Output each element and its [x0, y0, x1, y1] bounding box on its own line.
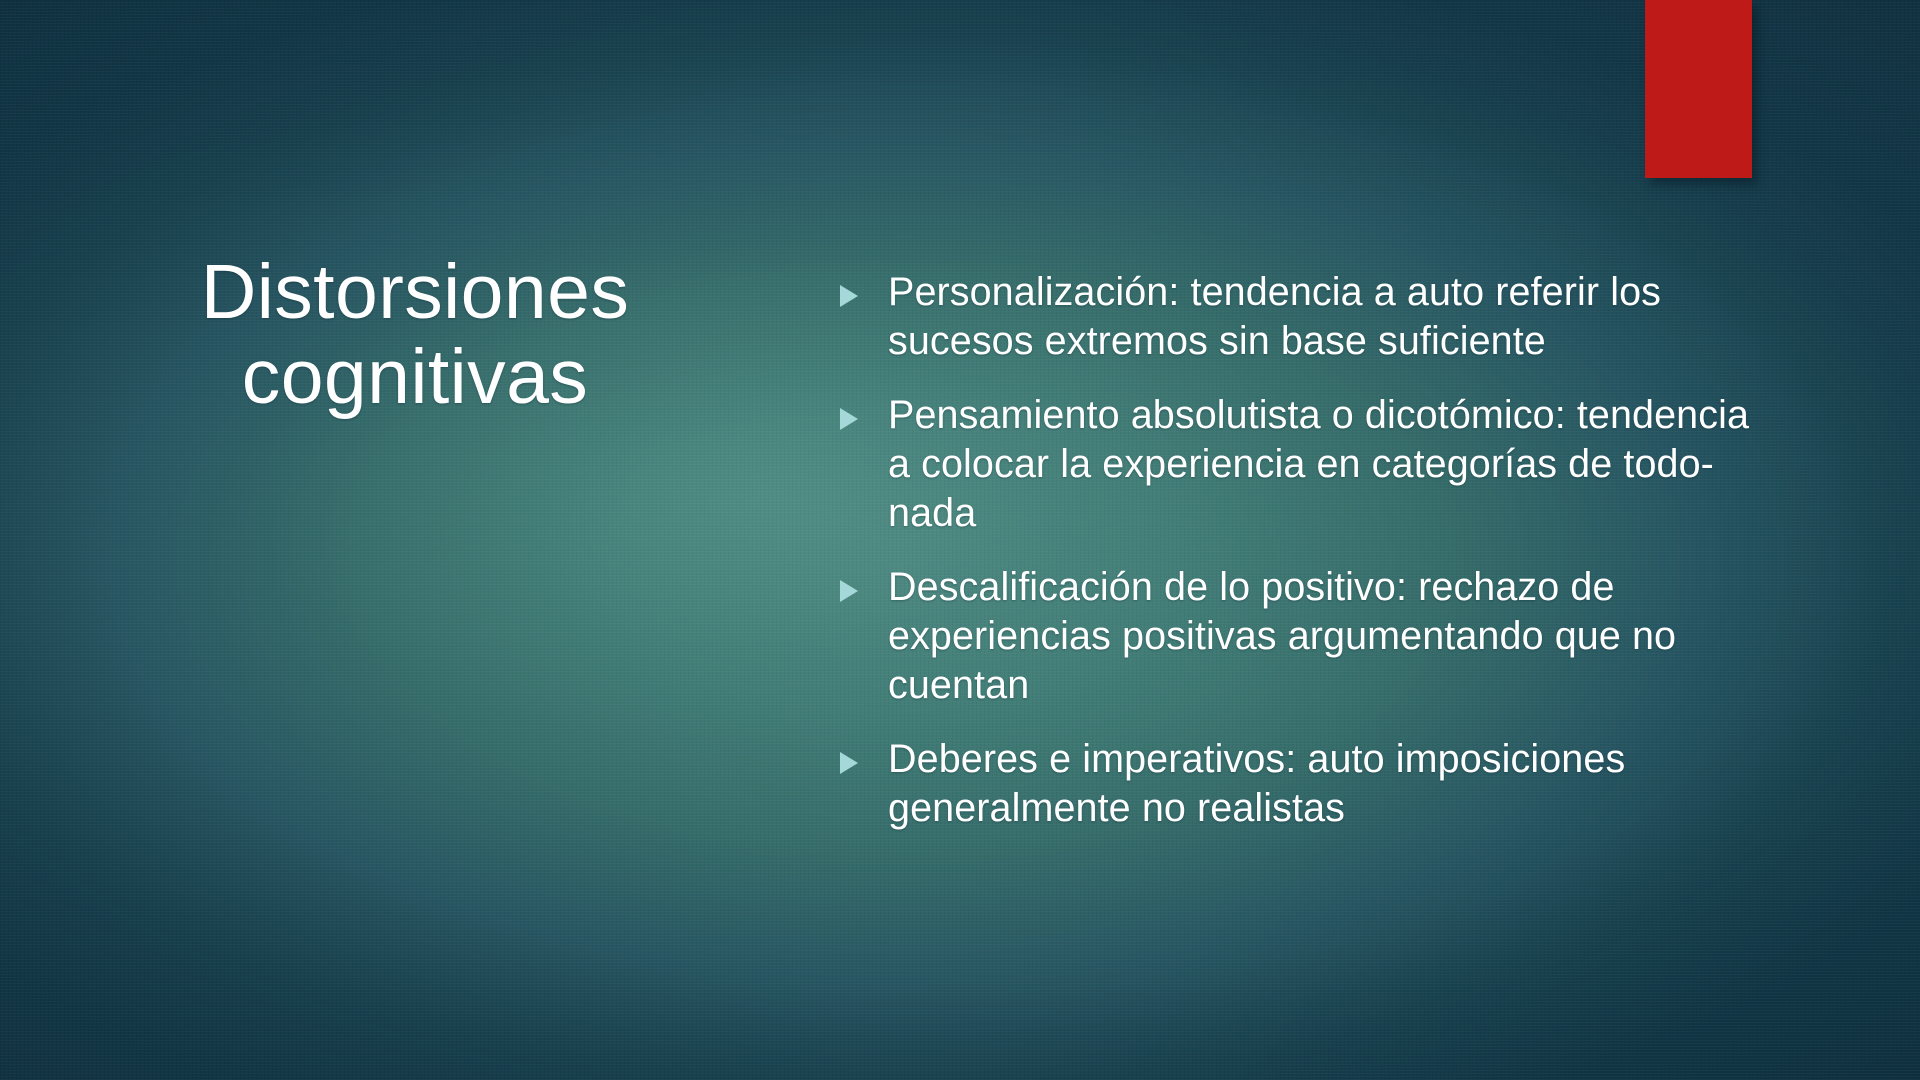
list-item: Descalificación de lo positivo: rechazo … [836, 563, 1766, 710]
list-item: Personalización: tendencia a auto referi… [836, 268, 1766, 366]
triangle-right-icon [836, 391, 888, 432]
list-item-text: Personalización: tendencia a auto referi… [888, 268, 1766, 366]
list-item-text: Deberes e imperativos: auto imposiciones… [888, 735, 1766, 833]
list-item-text: Pensamiento absolutista o dicotómico: te… [888, 391, 1766, 538]
list-item-text: Descalificación de lo positivo: rechazo … [888, 563, 1766, 710]
list-item: Deberes e imperativos: auto imposiciones… [836, 735, 1766, 833]
triangle-right-icon [836, 735, 888, 776]
triangle-right-icon [836, 268, 888, 309]
triangle-right-icon [836, 563, 888, 604]
bullet-list: Personalización: tendencia a auto referi… [836, 268, 1766, 833]
list-item: Pensamiento absolutista o dicotómico: te… [836, 391, 1766, 538]
presentation-slide: Distorsiones cognitivas Personalización:… [0, 0, 1920, 1080]
red-accent-bar [1645, 0, 1752, 178]
slide-title: Distorsiones cognitivas [100, 250, 730, 421]
